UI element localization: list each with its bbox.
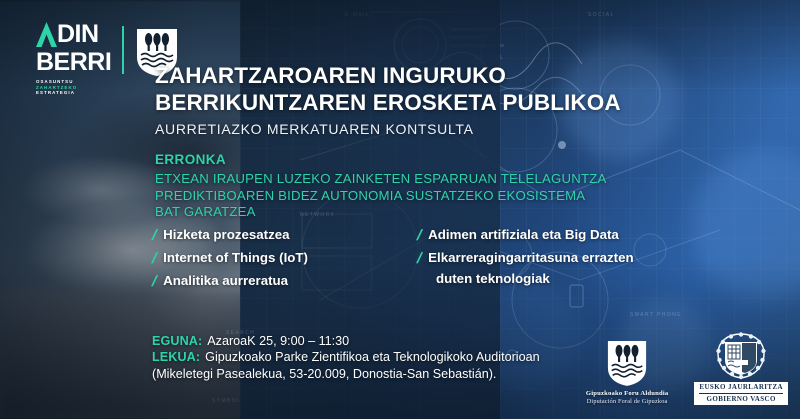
topic-label: Adimen artifiziala eta Big Data [428,228,619,243]
list-item: / Analitika aurreratua [152,274,417,291]
page-subtitle: AURRETIAZKO MERKATUAREN KONTSULTA [155,121,474,137]
logo-divider [122,26,124,74]
page-title: ZAHARTZAROAREN INGURUKO BERRIKUNTZAREN E… [155,62,621,117]
topic-columns: / Hizketa prozesatzea / Internet of Thin… [152,228,692,296]
list-item: / Adimen artifiziala eta Big Data [417,228,692,245]
adin-din-text: DIN [57,22,99,47]
challenge-line-1: ETXEAN IRAUPEN LUZEKO ZAINKETEN ESPARRUA… [155,171,606,188]
topic-column-left: / Hizketa prozesatzea / Internet of Thin… [152,228,417,296]
event-date-row: EGUNA: AzaroaK 25, 9:00 – 11:30 [152,333,540,349]
gipuzkoa-name-eu: Gipuzkoako Foru Aldundia [586,390,669,397]
adin-line: DIN [36,22,111,47]
event-address-value: (Mikeletegi Pasealekua, 53-20.009, Donos… [152,366,496,382]
topic-label-continuation: duten teknologiak [436,272,692,287]
list-item: / Hizketa prozesatzea [152,228,417,245]
adin-a-chevron-icon [36,22,57,47]
challenge-line-2: PREDIKTIBOAREN BIDEZ AUTONOMIA SUSTATZEK… [155,188,606,205]
basque-government-logo[interactable]: EUSKO JAURLARITZA GOBIERNO VASCO [694,332,788,405]
event-date-label: EGUNA: [152,333,202,349]
tagline-line-3: ESTRATEGIA [36,90,111,96]
adin-berri-wordmark: DIN BERRI OSASUNTSU ZAHARTZEKO ESTRATEGI… [36,22,111,96]
event-place-row: LEKUA: Gipuzkoako Parke Zientifikoa eta … [152,349,540,365]
topic-column-right: / Adimen artifiziala eta Big Data / Elka… [417,228,692,296]
topic-label: Elkarreragingarritasuna errazten [428,251,633,266]
event-place-label: LEKUA: [152,349,200,365]
gipuzkoa-name-es: Diputación Foral de Gipuzkoa [587,398,668,405]
basque-government-name-es: GOBIERNO VASCO [699,393,783,403]
event-address-row: (Mikeletegi Pasealekua, 53-20.009, Donos… [152,366,540,382]
challenge-label: ERRONKA [155,152,606,169]
topic-label: Internet of Things (IoT) [163,251,308,266]
adin-berri-tagline: OSASUNTSU ZAHARTZEKO ESTRATEGIA [36,79,111,96]
poster-canvas: E-MAIL SOCIAL GLOBAL NETWORK SEARCH SMAR… [0,0,800,419]
event-info-block: EGUNA: AzaroaK 25, 9:00 – 11:30 LEKUA: G… [152,333,540,382]
event-place-value: Gipuzkoako Parke Zientifikoa eta Teknolo… [205,349,539,365]
challenge-line-3: BAT GARATZEA [155,204,606,221]
gipuzkoa-logo[interactable]: Gipuzkoako Foru Aldundia Diputación Fora… [586,339,669,405]
topic-label: Analitika aurreratua [163,274,288,289]
challenge-block: ERRONKA ETXEAN IRAUPEN LUZEKO ZAINKETEN … [155,152,606,221]
basque-government-crest-icon [713,332,769,380]
list-item: / Elkarreragingarritasuna errazten [417,251,692,268]
basque-government-nameplate: EUSKO JAURLARITZA GOBIERNO VASCO [694,382,788,405]
title-line-2: BERRIKUNTZAREN EROSKETA PUBLIKOA [155,89,621,116]
footer-institutional-logos: Gipuzkoako Foru Aldundia Diputación Fora… [586,332,788,405]
title-line-1: ZAHARTZAROAREN INGURUKO [155,62,621,89]
event-date-value: AzaroaK 25, 9:00 – 11:30 [207,333,349,349]
gipuzkoa-shield-icon [606,339,648,387]
basque-government-name-eu: EUSKO JAURLARITZA [699,383,783,391]
berri-text: BERRI [36,49,111,75]
challenge-description: ETXEAN IRAUPEN LUZEKO ZAINKETEN ESPARRUA… [155,171,606,221]
topic-label: Hizketa prozesatzea [163,228,289,243]
list-item: / Internet of Things (IoT) [152,251,417,268]
